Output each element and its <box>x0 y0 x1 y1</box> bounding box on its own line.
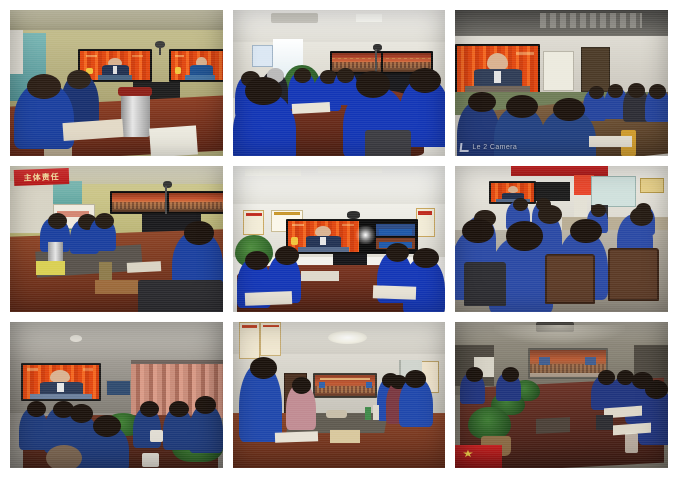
camera-watermark: Le 2 Camera <box>460 143 517 152</box>
wall-chart-title <box>418 211 432 215</box>
ceiling-light <box>328 331 366 344</box>
attendee-head-bald <box>46 445 82 468</box>
whiteboard <box>543 51 575 91</box>
attendee-head <box>628 83 645 98</box>
poster-header <box>263 325 278 328</box>
assembly-side-panel <box>319 382 325 388</box>
wall-poster <box>239 322 260 359</box>
attendee-head <box>140 401 159 417</box>
attendee-head <box>462 219 494 244</box>
attendee-head <box>245 251 268 270</box>
broadcast-podium <box>98 75 132 79</box>
ceiling-grid <box>540 13 642 28</box>
banner-text: 主体责任 <box>24 171 60 183</box>
attendee-head <box>506 95 538 118</box>
broadcast-caption-bar <box>86 55 97 57</box>
photo-9-scene <box>455 322 668 468</box>
desk-item <box>326 410 347 419</box>
document <box>245 291 292 306</box>
assembly-side-panel <box>585 357 596 365</box>
collage-photo-1[interactable] <box>10 10 223 156</box>
photo-5-scene <box>233 166 446 312</box>
attendee-head <box>70 404 93 423</box>
leeco-logo-icon <box>460 143 470 152</box>
broadcast-speaker-head <box>508 186 518 193</box>
whiteboard <box>591 176 636 207</box>
broadcast-podium <box>298 247 350 251</box>
broadcast-speaker-head <box>315 226 331 237</box>
camera-stand <box>159 45 162 55</box>
wall-poster <box>260 322 281 356</box>
display-bezel-divider <box>381 53 383 72</box>
photo-collage-grid: Le 2 Camera 主体责任 <box>0 0 680 480</box>
wall-plaque <box>640 178 663 193</box>
broadcast-speaker-shirt <box>494 71 501 83</box>
photo-6-scene <box>455 166 668 312</box>
bottle <box>365 407 371 420</box>
attendee-head <box>608 84 623 97</box>
photo-4-scene: 主体责任 <box>10 166 223 312</box>
ceiling-vent <box>271 13 318 23</box>
assembly-banner <box>320 378 370 380</box>
collage-photo-4[interactable]: 主体责任 <box>10 166 223 312</box>
attendee-head <box>27 74 61 99</box>
display-screen <box>491 183 534 202</box>
projection-screen-image <box>23 365 100 399</box>
broadcast-speaker-shirt <box>113 66 117 74</box>
wall-display <box>489 181 536 204</box>
projection-screen <box>313 373 377 398</box>
broadcast-caption-bar <box>27 368 38 370</box>
attendee-head <box>275 246 298 265</box>
attendee-head <box>506 221 542 250</box>
attendee-head <box>195 396 216 414</box>
attendee-head <box>630 207 653 226</box>
ceiling <box>233 10 446 42</box>
photo-7-scene <box>10 322 223 468</box>
poster-header <box>242 325 257 328</box>
thermos-lid <box>118 87 152 96</box>
attendee-head <box>553 98 585 121</box>
chair <box>365 130 412 156</box>
wall-chart <box>243 210 264 235</box>
attendee-head <box>502 367 519 382</box>
wall-chart-title <box>274 212 300 215</box>
attendee-head <box>250 357 278 379</box>
document <box>301 271 339 281</box>
attendee-head <box>48 213 67 229</box>
ceiling-light <box>245 169 300 176</box>
wall-banner[interactable]: 主体责任 <box>14 168 70 186</box>
desk-item <box>596 415 613 430</box>
bottle <box>373 405 379 420</box>
attendee-head <box>570 219 602 244</box>
broadcast-speaker-shirt <box>320 237 326 245</box>
attendee-head <box>337 68 354 83</box>
projection-screen-image <box>530 350 607 377</box>
photo-1-scene <box>10 10 223 156</box>
attendee-head <box>292 377 311 393</box>
projection-screen-image <box>315 375 375 396</box>
broadcast-emblem-2 <box>175 67 181 74</box>
broadcast-channel-bug <box>83 368 94 370</box>
projection-screen <box>21 363 102 401</box>
attendee-head <box>413 248 439 268</box>
attendee-head <box>538 205 561 224</box>
attendee-head <box>93 415 121 437</box>
red-flag <box>455 445 502 468</box>
attendee-head <box>245 77 281 105</box>
attendee-head <box>598 370 615 385</box>
display-1-screen <box>80 51 150 79</box>
curtain-rail <box>131 360 222 364</box>
attendee-head <box>67 70 90 89</box>
broadcast-emblem <box>291 237 297 244</box>
attendee-head <box>184 221 214 244</box>
ceiling-light <box>318 167 382 173</box>
wall-chart <box>416 208 435 236</box>
collage-photo-5[interactable] <box>233 166 446 312</box>
assembly-side-panel <box>539 357 550 365</box>
attendee-head <box>356 71 390 97</box>
assembly-side-panel <box>366 382 372 388</box>
broadcast-caption-bar-2 <box>175 55 184 57</box>
attendee-head <box>95 213 114 229</box>
display-bezel-divider <box>167 193 169 212</box>
wall-banner <box>511 166 609 176</box>
document <box>275 431 318 443</box>
table-inlay <box>536 417 570 433</box>
wall-picture <box>106 380 131 395</box>
broadcast-podium-2 <box>185 75 215 79</box>
document <box>373 285 416 300</box>
broadcast-channel-bug <box>342 224 353 226</box>
collage-photo-3[interactable]: Le 2 Camera <box>455 10 668 156</box>
broadcast-caption-bar <box>516 52 534 55</box>
paper-cup <box>142 453 159 466</box>
ceiling-light <box>356 14 382 21</box>
ceiling-light-glow <box>494 325 626 344</box>
chair <box>464 262 507 306</box>
wall-chart-title <box>246 213 262 217</box>
ceiling <box>10 10 223 30</box>
photo-3-scene: Le 2 Camera <box>455 10 668 156</box>
nameplate <box>95 280 138 295</box>
broadcast-caption-bar <box>292 224 303 226</box>
chair <box>608 248 659 302</box>
wall-edge <box>10 30 23 74</box>
assembly-caption-band <box>530 373 607 377</box>
attendee-head <box>405 370 426 388</box>
tissue-box <box>36 261 66 276</box>
wall-display-2 <box>169 49 222 81</box>
collage-photo-8[interactable] <box>233 322 446 468</box>
chair <box>138 280 223 312</box>
ceiling <box>10 322 223 360</box>
broadcast-speaker-shirt <box>57 383 64 392</box>
paper-cup <box>150 430 163 442</box>
conference-camera-icon <box>347 211 360 218</box>
display-main-panel <box>288 221 360 252</box>
attendee-head <box>468 92 496 112</box>
attendee-head <box>513 198 528 211</box>
attendee-head <box>466 367 483 382</box>
attendee-head <box>649 84 666 99</box>
projection-screen-image <box>457 46 538 93</box>
potted-plant <box>468 407 511 439</box>
collage-photo-6[interactable] <box>455 166 668 312</box>
tissue-box <box>149 125 198 156</box>
thermos <box>121 90 151 137</box>
wall-poster <box>252 45 273 67</box>
projection-screen <box>528 348 609 379</box>
broadcast-channel-bug <box>132 55 143 57</box>
water-bottle <box>625 433 638 453</box>
collage-photo-2[interactable] <box>233 10 446 156</box>
attendee-head <box>27 401 46 417</box>
display-2-screen <box>171 51 222 79</box>
document <box>589 136 632 148</box>
video-tile-people <box>379 229 412 235</box>
photo-8-scene <box>233 322 446 468</box>
video-tile <box>375 223 416 237</box>
photo-2-scene <box>233 10 446 156</box>
attendee-head <box>169 401 188 417</box>
broadcast-podium <box>30 394 91 398</box>
watermark-text: Le 2 Camera <box>472 144 517 151</box>
chair <box>545 254 596 305</box>
collage-photo-9[interactable] <box>455 322 668 468</box>
folder <box>330 430 360 443</box>
collage-photo-7[interactable] <box>10 322 223 468</box>
flag-star-icon <box>463 450 473 458</box>
projection-screen <box>455 44 540 95</box>
